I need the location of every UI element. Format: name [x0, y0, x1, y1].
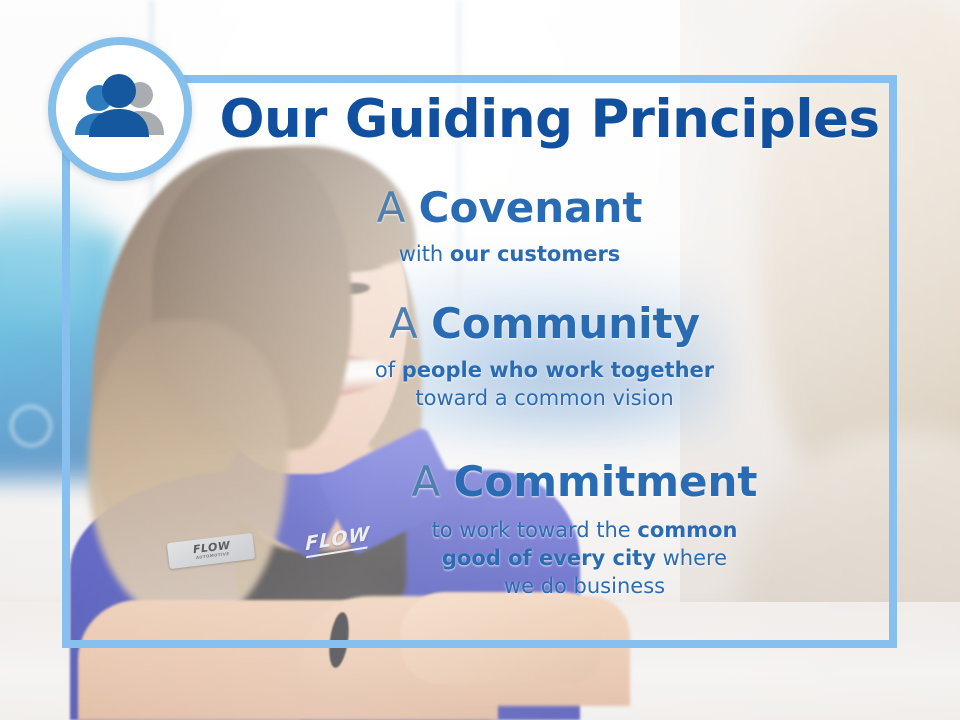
page-title: Our Guiding Principles: [62, 93, 897, 146]
principle-covenant-subtext: with our customers: [122, 240, 897, 268]
poster-text-content: Our Guiding Principles A Covenant with o…: [62, 75, 897, 648]
subline-light: to work toward the: [432, 518, 638, 542]
principle-community: A Community of people who work together …: [62, 303, 897, 412]
subline-light: toward a common vision: [415, 386, 673, 410]
principle-commitment-heading: A Commitment: [272, 461, 897, 504]
principle-commitment: A Commitment to work toward the common g…: [62, 461, 897, 600]
principle-commitment-article: A: [412, 457, 454, 506]
principle-community-keyword: Community: [431, 299, 700, 348]
subline-bold: our customers: [450, 242, 620, 266]
subline-bold: people who work together: [402, 358, 714, 382]
principle-community-subline: of people who work together: [192, 356, 897, 384]
principle-community-article: A: [389, 299, 431, 348]
subline-bold: good of every city: [442, 546, 656, 570]
principle-community-subtext: of people who work together toward a com…: [192, 356, 897, 412]
subline-light: of: [375, 358, 402, 382]
principle-commitment-subline: to work toward the common: [272, 516, 897, 544]
principle-covenant-heading: A Covenant: [122, 187, 897, 230]
principle-commitment-subtext: to work toward the common good of every …: [272, 516, 897, 600]
principle-commitment-subline: we do business: [272, 572, 897, 600]
principle-covenant-subline: with our customers: [122, 240, 897, 268]
subline-light: where: [656, 546, 727, 570]
photo-background-car-emblem: [10, 405, 52, 447]
principle-covenant-article: A: [377, 183, 419, 232]
principle-commitment-subline: good of every city where: [272, 544, 897, 572]
principle-covenant-keyword: Covenant: [419, 183, 643, 232]
subline-light: with: [399, 242, 450, 266]
principle-community-heading: A Community: [192, 303, 897, 346]
principle-commitment-keyword: Commitment: [454, 457, 758, 506]
principle-community-subline: toward a common vision: [192, 384, 897, 412]
poster-canvas: FLOW AUTOMOTIVE FLOW Our Guiding Princip…: [0, 0, 960, 720]
subline-bold: common: [637, 518, 737, 542]
subline-light: we do business: [504, 574, 665, 598]
principle-covenant: A Covenant with our customers: [62, 187, 897, 268]
